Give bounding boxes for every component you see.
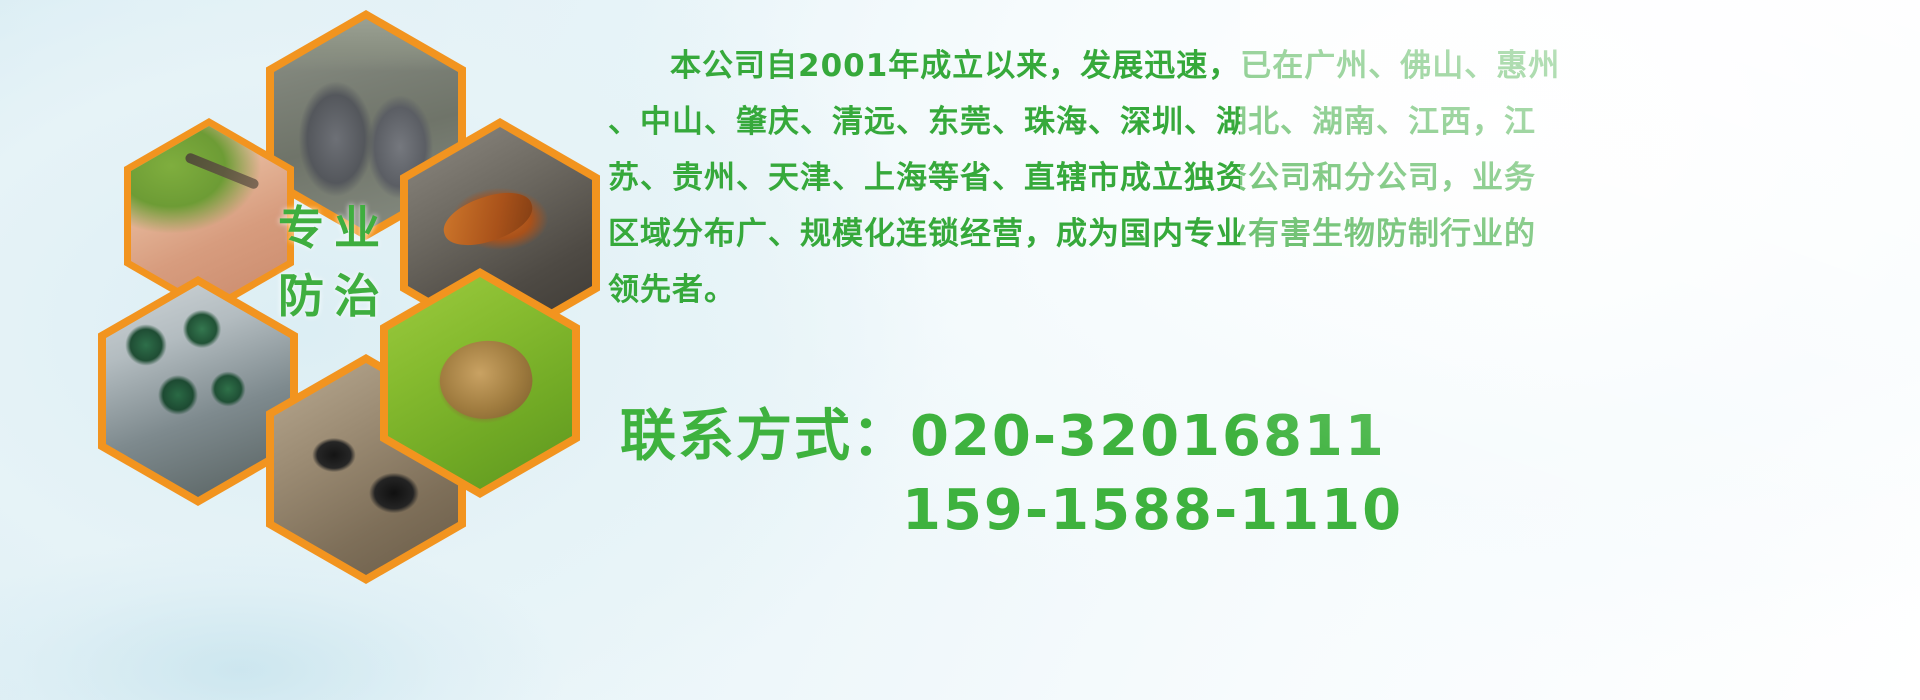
description-line-1: 本公司自2001年成立以来，发展迅速，已在广州、佛山、惠州 bbox=[608, 38, 1908, 94]
contact-label: 联系方式： bbox=[620, 404, 910, 469]
brand-slogan-line2: 防治 bbox=[246, 262, 422, 330]
contact-block: 联系方式：020-32016811 159-1588-1110 bbox=[620, 400, 1900, 548]
description-line-5: 领先者。 bbox=[608, 262, 1908, 318]
contact-phone-secondary[interactable]: 159-1588-1110 bbox=[620, 474, 1900, 548]
description-line-2: 、中山、肇庆、清远、东莞、珠海、深圳、湖北、湖南、江西，江 bbox=[608, 94, 1908, 150]
pest-control-banner: 专业 防治 本公司自2001年成立以来，发展迅速，已在广州、佛山、惠州 、中山、… bbox=[0, 0, 1920, 700]
brand-slogan-line1: 专业 bbox=[246, 194, 422, 262]
brand-slogan: 专业 防治 bbox=[246, 194, 422, 330]
contact-phone-primary[interactable]: 020-32016811 bbox=[910, 404, 1386, 469]
description-line-4: 区域分布广、规模化连锁经营，成为国内专业有害生物防制行业的 bbox=[608, 206, 1908, 262]
company-description: 本公司自2001年成立以来，发展迅速，已在广州、佛山、惠州 、中山、肇庆、清远、… bbox=[608, 38, 1908, 318]
description-line-3: 苏、贵州、天津、上海等省、直辖市成立独资公司和分公司，业务 bbox=[608, 150, 1908, 206]
hexagon-photo-collage: 专业 防治 bbox=[80, 10, 590, 555]
